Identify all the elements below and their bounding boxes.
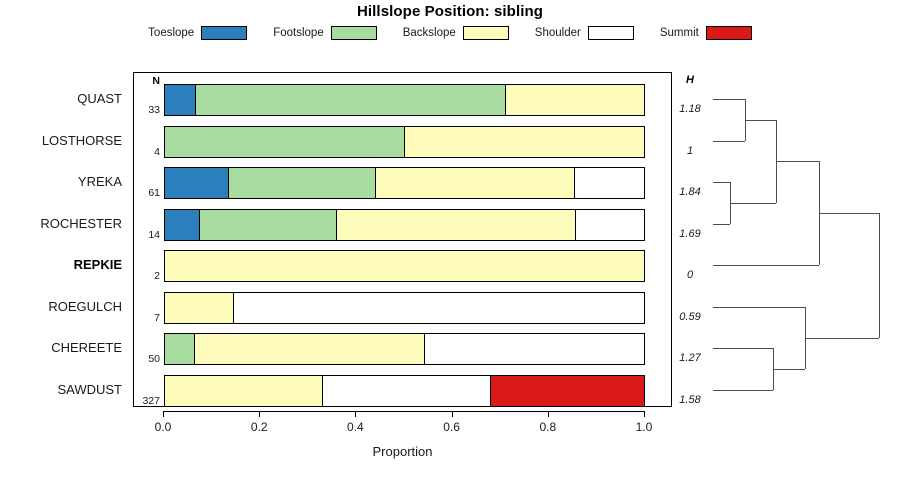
dendrogram	[700, 72, 898, 407]
dendrogram-link	[773, 369, 805, 370]
stacked-bar	[164, 167, 645, 199]
row-count: 7	[134, 312, 160, 324]
legend-item-summit: Summit	[660, 26, 752, 40]
bar-segment-footslope	[165, 127, 405, 157]
dendrogram-link	[713, 182, 730, 183]
bar-segment-footslope	[196, 85, 507, 115]
dendrogram-link	[713, 224, 730, 225]
x-axis-tick	[548, 411, 549, 417]
x-axis-tick	[355, 411, 356, 417]
bar-row: 50	[134, 330, 671, 371]
row-count: 327	[134, 395, 160, 407]
x-axis-tick	[163, 411, 164, 417]
x-axis-title: Proportion	[133, 444, 672, 459]
bar-segment-backslope	[376, 168, 575, 198]
bar-segment-summit	[491, 376, 644, 406]
row-count: 33	[134, 104, 160, 116]
bar-segment-shoulder	[323, 376, 491, 406]
legend-swatch	[331, 26, 377, 40]
row-count: 4	[134, 146, 160, 158]
row-count: 14	[134, 229, 160, 241]
dendrogram-link	[879, 213, 880, 338]
dendrogram-link	[730, 203, 776, 204]
y-axis-label-quast: QUAST	[77, 91, 122, 106]
legend-label: Toeslope	[148, 27, 194, 39]
bar-row: 61	[134, 164, 671, 205]
legend-label: Footslope	[273, 27, 324, 39]
bar-segment-backslope	[405, 127, 644, 157]
stacked-bar	[164, 126, 645, 158]
bar-segment-shoulder	[575, 168, 644, 198]
dendrogram-link	[713, 265, 819, 266]
x-axis-tick-label: 0.6	[443, 420, 460, 434]
bar-segment-toeslope	[165, 85, 196, 115]
legend-swatch	[201, 26, 247, 40]
x-axis: 0.00.20.40.60.81.0	[133, 411, 672, 412]
bar-segment-shoulder	[425, 334, 644, 364]
dendrogram-link	[776, 161, 819, 162]
x-axis-tick	[259, 411, 260, 417]
dendrogram-link	[819, 213, 879, 214]
stacked-bar	[164, 209, 645, 241]
dendrogram-link	[713, 99, 745, 100]
legend-item-footslope: Footslope	[273, 26, 377, 40]
y-axis-label-repkie: REPKIE	[74, 257, 122, 272]
dendrogram-link	[713, 348, 773, 349]
bar-row: 7	[134, 289, 671, 330]
x-axis-tick-label: 0.8	[539, 420, 556, 434]
y-axis-label-rochester: ROCHESTER	[40, 216, 122, 231]
bar-segment-backslope	[195, 334, 425, 364]
stacked-bar	[164, 84, 645, 116]
dendrogram-link	[745, 120, 776, 121]
bar-row: 33	[134, 81, 671, 122]
bar-row: 14	[134, 206, 671, 247]
y-axis-label-chereete: CHEREETE	[51, 340, 122, 355]
bar-segment-backslope	[337, 210, 576, 240]
plot-area: N33461142750327	[133, 72, 672, 407]
legend-item-shoulder: Shoulder	[535, 26, 634, 40]
y-axis-label-roegulch: ROEGULCH	[48, 299, 122, 314]
bar-segment-toeslope	[165, 210, 200, 240]
legend-item-backslope: Backslope	[403, 26, 509, 40]
x-axis-tick-label: 1.0	[636, 420, 653, 434]
x-axis-tick-label: 0.0	[155, 420, 172, 434]
x-axis-tick-label: 0.4	[347, 420, 364, 434]
bar-row: 2	[134, 247, 671, 288]
x-axis-tick	[644, 411, 645, 417]
y-axis-labels: QUASTLOSTHORSEYREKAROCHESTERREPKIEROEGUL…	[0, 72, 128, 407]
bar-segment-toeslope	[165, 168, 229, 198]
bar-segment-backslope	[165, 376, 323, 406]
legend-swatch	[463, 26, 509, 40]
stacked-bar	[164, 375, 645, 407]
y-axis-label-sawdust: SAWDUST	[57, 382, 122, 397]
bar-segment-footslope	[200, 210, 337, 240]
dendrogram-link	[713, 141, 745, 142]
y-axis-label-losthorse: LOSTHORSE	[42, 133, 122, 148]
row-count: 61	[134, 187, 160, 199]
bar-segment-backslope	[165, 293, 234, 323]
row-count: 2	[134, 270, 160, 282]
dendrogram-link	[713, 390, 773, 391]
bar-segment-shoulder	[576, 210, 644, 240]
x-axis-line	[163, 411, 644, 412]
page-title: Hillslope Position: sibling	[0, 3, 900, 20]
bar-segment-footslope	[165, 334, 195, 364]
bar-segment-backslope	[165, 251, 644, 281]
x-axis-tick	[452, 411, 453, 417]
x-axis-tick-label: 0.2	[251, 420, 268, 434]
legend-swatch	[706, 26, 752, 40]
stacked-bar	[164, 250, 645, 282]
y-axis-label-yreka: YREKA	[78, 174, 122, 189]
bar-row: 327	[134, 372, 671, 413]
row-count: 50	[134, 353, 160, 365]
legend: ToeslopeFootslopeBackslopeShoulderSummit	[0, 26, 900, 40]
bar-segment-shoulder	[234, 293, 644, 323]
bar-segment-footslope	[229, 168, 376, 198]
stacked-bar-rows: N33461142750327	[134, 73, 671, 406]
legend-label: Shoulder	[535, 27, 581, 39]
stacked-bar	[164, 333, 645, 365]
bar-segment-backslope	[506, 85, 644, 115]
legend-swatch	[588, 26, 634, 40]
legend-item-toeslope: Toeslope	[148, 26, 247, 40]
dendrogram-link	[805, 338, 879, 339]
dendrogram-link	[713, 307, 805, 308]
legend-label: Summit	[660, 27, 699, 39]
stacked-bar	[164, 292, 645, 324]
bar-row: 4	[134, 123, 671, 164]
legend-label: Backslope	[403, 27, 456, 39]
